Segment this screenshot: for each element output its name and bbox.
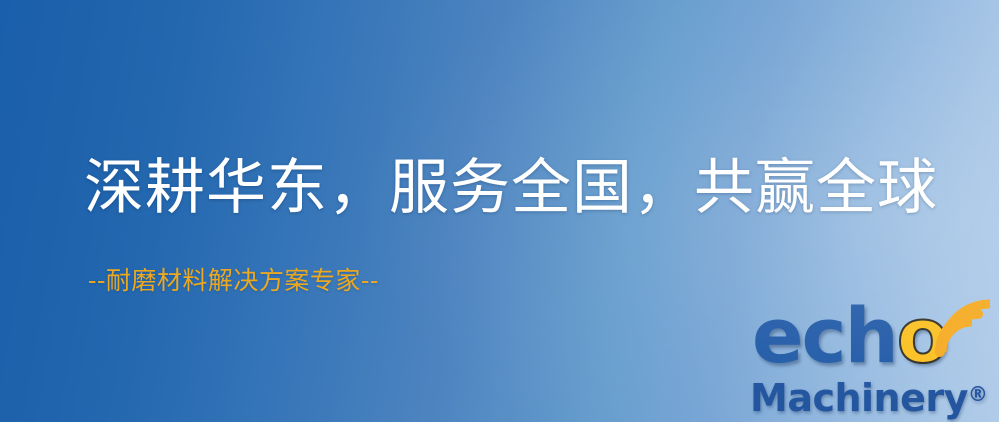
logo-echo-prefix: ech (752, 291, 897, 380)
signal-waves-icon (930, 290, 999, 362)
logo-mark: echo Machiner (744, 292, 999, 422)
hero-banner: 深耕华东，服务全国，共赢全球 --耐磨材料解决方案专家-- echo (0, 0, 999, 422)
page-subtitle: --耐磨材料解决方案专家-- (88, 266, 379, 296)
company-logo[interactable]: echo Machiner (744, 292, 999, 422)
page-title: 深耕华东，服务全国，共赢全球 (84, 152, 938, 224)
logo-machinery-text: Machinery (750, 376, 968, 420)
logo-wordmark-machinery: Machinery® (750, 374, 988, 418)
registered-trademark-icon: ® (968, 382, 988, 406)
logo-wordmark-echo: echo (752, 298, 947, 374)
